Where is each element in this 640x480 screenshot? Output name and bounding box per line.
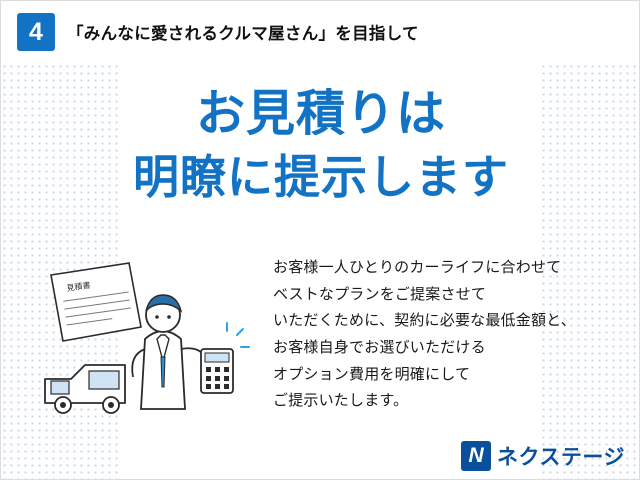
headline: お見積りは 明瞭に提示します: [1, 85, 640, 205]
staff-illustration: 見積書: [37, 253, 267, 443]
header-bar: 4 「みんなに愛されるクルマ屋さん」を目指して: [1, 1, 640, 64]
salesperson-icon: [132, 295, 207, 409]
description-paragraph: お客様一人ひとりのカーライフに合わせて ベストなプランをご提案させて いただくた…: [273, 255, 633, 415]
sparkle-icon: [227, 323, 249, 347]
promo-banner: 4 「みんなに愛されるクルマ屋さん」を目指して お見積りは 明瞭に提示します お…: [0, 0, 640, 480]
description-line: オプション費用を明確にして: [273, 362, 633, 389]
header-title: 「みんなに愛されるクルマ屋さん」を目指して: [67, 20, 419, 44]
logo-mark-icon: N: [461, 441, 491, 471]
headline-line-1: お見積りは: [1, 85, 640, 145]
content-area: お見積りは 明瞭に提示します お客様一人ひとりのカーライフに合わせて ベストなプ…: [1, 63, 640, 480]
description-line: お客様一人ひとりのカーライフに合わせて: [273, 255, 633, 282]
step-number-badge: 4: [17, 13, 55, 51]
logo-text: ネクステージ: [497, 441, 625, 471]
calculator-icon: [201, 323, 249, 393]
brand-logo: N ネクステージ: [461, 441, 625, 471]
estimate-document-icon: 見積書: [51, 263, 141, 341]
headline-line-2: 明瞭に提示します: [1, 149, 640, 205]
description-line: ご提示いたします。: [273, 388, 633, 415]
description-line: ベストなプランをご提案させて: [273, 282, 633, 309]
description-line: いただくために、契約に必要な最低金額と、: [273, 308, 633, 335]
van-icon: [45, 365, 125, 413]
description-line: お客様自身でお選びいただける: [273, 335, 633, 362]
